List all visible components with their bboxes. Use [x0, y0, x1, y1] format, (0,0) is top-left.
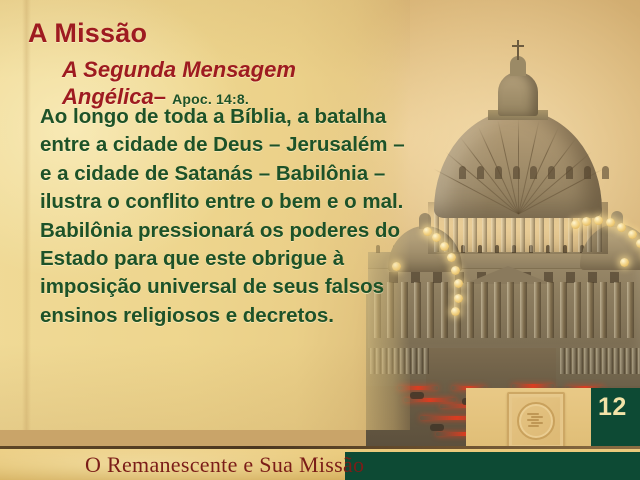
facade-column	[494, 282, 501, 338]
emblem-glyph	[527, 413, 545, 427]
facade-column	[600, 282, 607, 338]
emblem-glyph-stroke	[528, 425, 539, 427]
street-lamp-left	[447, 253, 456, 262]
emblem-glyph-stroke	[531, 422, 543, 424]
facade-column	[427, 282, 434, 338]
facade-column	[481, 282, 488, 338]
facade-column	[587, 282, 594, 338]
facade-column	[507, 282, 514, 338]
page-title: A Missão	[28, 18, 147, 49]
page-number: 12	[598, 393, 627, 422]
facade-column	[627, 282, 634, 338]
cross-icon	[517, 40, 519, 60]
dome-shell	[434, 110, 602, 218]
street-lamp-post-right	[620, 258, 629, 267]
facade-column	[560, 282, 567, 338]
dome-rib	[445, 151, 519, 214]
presentation-slide: A Missão A Segunda Mensagem Angélica– Ap…	[0, 0, 640, 480]
dome-rib	[518, 118, 519, 214]
facade-column	[520, 282, 527, 338]
footer-green-panel	[345, 452, 640, 480]
emblem-glyph-stroke	[527, 419, 539, 421]
footer-title: O Remanescente e Sua Missão	[85, 452, 364, 478]
facade-column	[534, 282, 541, 338]
street-lamp-right	[628, 230, 637, 239]
street-lamp-left	[423, 227, 432, 236]
street-lamp-right	[636, 239, 640, 248]
street-lamp-left	[454, 294, 463, 303]
slide-body-text: Ao longo de toda a Bíblia, a batalha ent…	[40, 103, 410, 330]
street-lamp-left	[451, 266, 460, 275]
subtitle-line-1: A Segunda Mensagem	[62, 57, 296, 82]
slide-text-block: A Missão A Segunda Mensagem Angélica– Ap…	[0, 0, 420, 430]
facade-column	[574, 282, 581, 338]
facade-column	[441, 282, 448, 338]
facade-column	[547, 282, 554, 338]
facade-column	[467, 282, 474, 338]
vehicle-silhouette	[430, 424, 444, 431]
facade-column	[614, 282, 621, 338]
emblem-glyph-stroke	[531, 416, 543, 418]
emblem-glyph-stroke	[527, 413, 539, 415]
dome-lantern	[498, 72, 538, 116]
emblem-logo-icon	[507, 392, 565, 450]
